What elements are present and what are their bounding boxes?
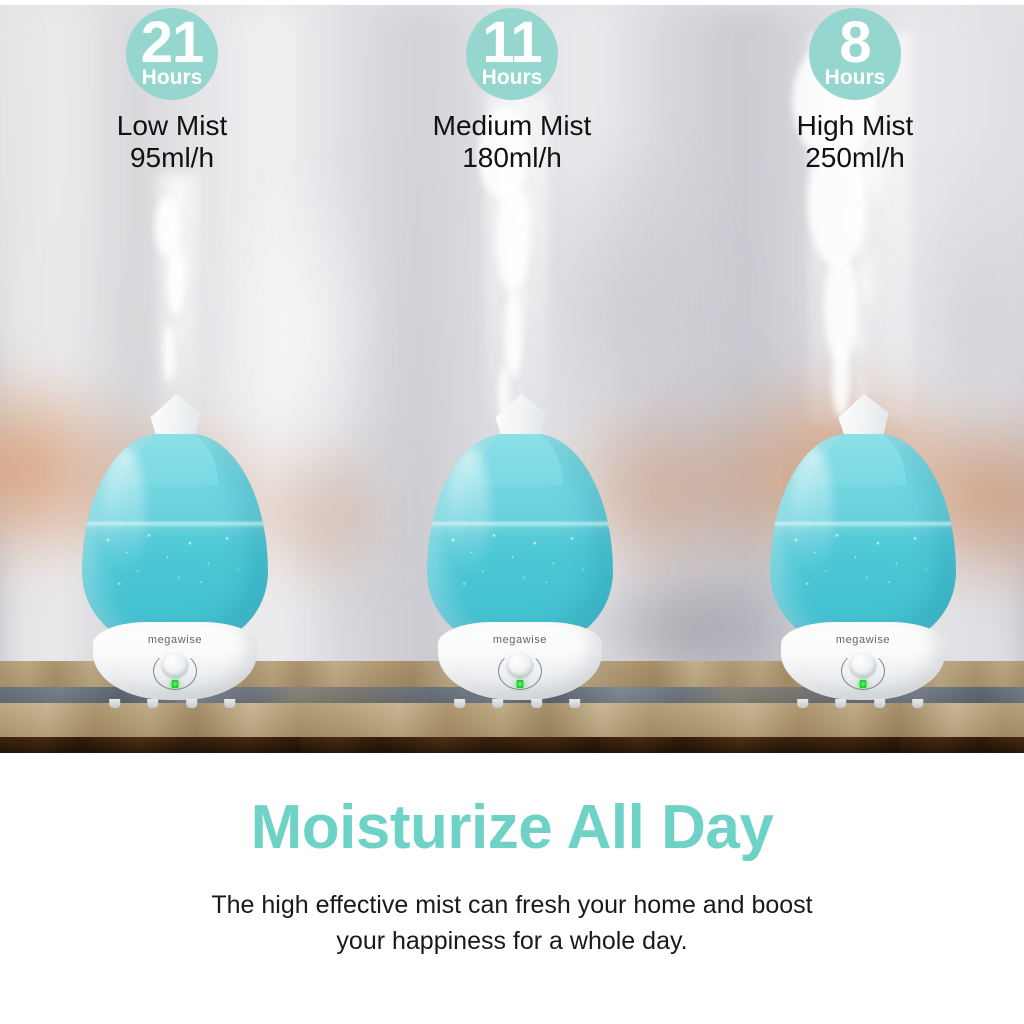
- water-tank: [770, 434, 956, 646]
- subheadline: The high effective mist can fresh your h…: [0, 888, 1024, 959]
- brand-logo: megawise: [93, 634, 257, 646]
- mode-rate-label: 180ml/h: [392, 142, 632, 174]
- mist-control-knob[interactable]: [162, 653, 188, 677]
- mist-control-knob[interactable]: [507, 653, 533, 677]
- water-tank: [82, 434, 268, 646]
- humidifier-unit-high: megawise: [770, 408, 956, 708]
- runtime-hours-unit: Hours: [825, 67, 886, 88]
- runtime-hours-value: 8: [839, 16, 870, 69]
- unit-feet: [451, 698, 589, 708]
- mode-name-label: Low Mist: [52, 110, 292, 142]
- mode-badge-medium: 11 Hours Medium Mist 180ml/h: [392, 8, 632, 174]
- humidifier-unit-low: megawise: [82, 408, 268, 708]
- subheadline-line-2: your happiness for a whole day.: [0, 924, 1024, 960]
- unit-feet: [794, 698, 932, 708]
- runtime-hours-value: 11: [482, 16, 541, 69]
- water-bubbles: [427, 526, 613, 604]
- subheadline-line-1: The high effective mist can fresh your h…: [0, 888, 1024, 924]
- water-tank: [427, 434, 613, 646]
- power-led-icon: [516, 680, 523, 688]
- mode-name-label: Medium Mist: [392, 110, 632, 142]
- unit-base: megawise: [781, 622, 945, 700]
- runtime-hours-unit: Hours: [142, 67, 203, 88]
- bottom-caption-panel: Moisturize All Day The high effective mi…: [0, 753, 1024, 1024]
- power-led-icon: [859, 680, 866, 688]
- mode-name-label: High Mist: [735, 110, 975, 142]
- table-plank-lower: [0, 703, 1024, 737]
- water-bubbles: [770, 526, 956, 604]
- unit-base: megawise: [438, 622, 602, 700]
- brand-logo: megawise: [438, 634, 602, 646]
- unit-feet: [106, 698, 244, 708]
- mist-control-knob[interactable]: [850, 653, 876, 677]
- runtime-badge-circle: 8 Hours: [809, 8, 901, 100]
- headline: Moisturize All Day: [0, 795, 1024, 860]
- brand-logo: megawise: [781, 634, 945, 646]
- table-front-edge: [0, 737, 1024, 753]
- power-led-icon: [171, 680, 178, 688]
- mode-rate-label: 250ml/h: [735, 142, 975, 174]
- product-infographic: megawise: [0, 0, 1024, 1024]
- runtime-badge-circle: 21 Hours: [126, 8, 218, 100]
- runtime-hours-value: 21: [141, 16, 204, 69]
- unit-base: megawise: [93, 622, 257, 700]
- water-bubbles: [82, 526, 268, 604]
- runtime-hours-unit: Hours: [482, 67, 543, 88]
- mode-badge-high: 8 Hours High Mist 250ml/h: [735, 8, 975, 174]
- humidifier-unit-medium: megawise: [427, 408, 613, 708]
- runtime-badge-circle: 11 Hours: [466, 8, 558, 100]
- product-photo-panel: megawise: [0, 5, 1024, 753]
- mode-rate-label: 95ml/h: [52, 142, 292, 174]
- mode-badge-low: 21 Hours Low Mist 95ml/h: [52, 8, 292, 174]
